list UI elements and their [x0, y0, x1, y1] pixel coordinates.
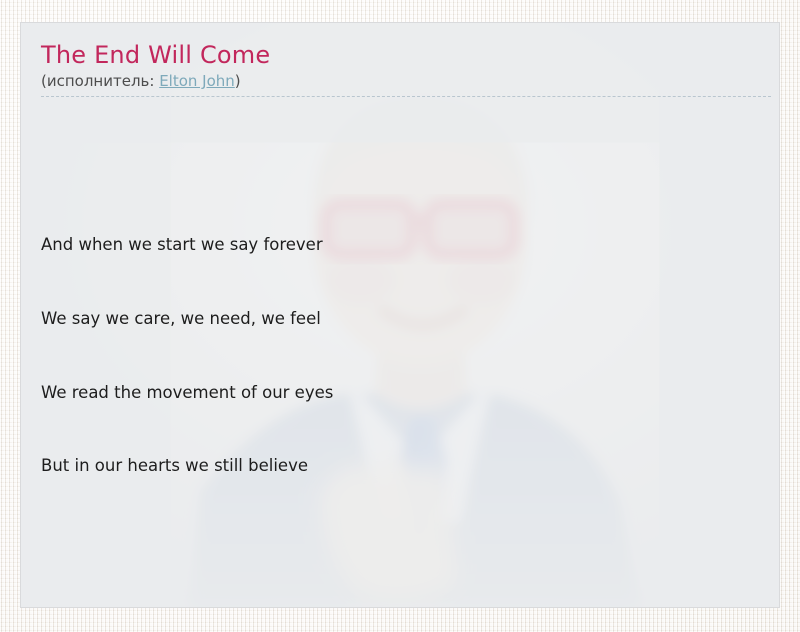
- lyrics-content-panel: The End Will Come (исполнитель: Elton Jo…: [20, 22, 780, 608]
- performer-prefix-label: (исполнитель:: [41, 72, 159, 90]
- lyrics-body: And when we start we say forever We say …: [41, 110, 759, 608]
- lyric-line: We say we care, we need, we feel: [41, 307, 759, 332]
- page-title: The End Will Come: [41, 41, 759, 70]
- performer-line: (исполнитель: Elton John): [41, 71, 771, 97]
- performer-link[interactable]: Elton John: [159, 72, 235, 90]
- lyric-line: But in our hearts we still believe: [41, 454, 759, 479]
- performer-suffix-label: ): [235, 72, 241, 90]
- lyric-line: We read the movement of our eyes: [41, 381, 759, 406]
- lyrics-verse: And when we start we say forever We say …: [41, 184, 759, 528]
- lyric-line: And when we start we say forever: [41, 233, 759, 258]
